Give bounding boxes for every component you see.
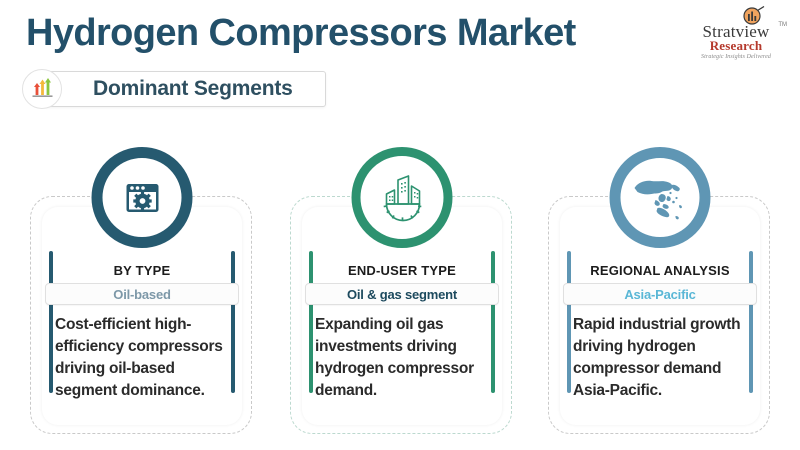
card-heading: REGIONAL ANALYSIS <box>560 263 760 278</box>
infographic-canvas: Hydrogen Compressors Market Stratview TM… <box>0 0 800 450</box>
industry-gear-icon <box>352 147 453 248</box>
card-description: Rapid industrial growth driving hydrogen… <box>573 314 752 402</box>
brand-logo: Stratview TM Research Strategic Insights… <box>684 6 788 64</box>
logo-subname: Research <box>684 39 788 52</box>
growth-arrows-icon <box>22 69 62 109</box>
segment-pill: Oil & gas segment <box>305 283 499 305</box>
segment-card-end-user-type: END-USER TYPE Oil & gas segment Expandin… <box>290 196 512 434</box>
segment-pill: Asia-Pacific <box>563 283 757 305</box>
logo-trademark: TM <box>778 22 787 28</box>
segment-pill: Oil-based <box>45 283 239 305</box>
card-heading: END-USER TYPE <box>302 263 502 278</box>
badge-label: Dominant Segments <box>93 77 293 101</box>
card-heading: BY TYPE <box>42 263 242 278</box>
segment-card-by-type: BY TYPE Oil-based Cost-efficient high-ef… <box>30 196 252 434</box>
segment-pill-label: Asia-Pacific <box>624 287 695 302</box>
segment-pill-label: Oil-based <box>113 287 170 302</box>
segment-pill-label: Oil & gas segment <box>347 287 457 302</box>
page-title: Hydrogen Compressors Market <box>26 12 576 55</box>
card-inner: REGIONAL ANALYSIS Asia-Pacific Rapid ind… <box>560 207 760 425</box>
browser-gear-icon <box>92 147 193 248</box>
segment-card-regional-analysis: REGIONAL ANALYSIS Asia-Pacific Rapid ind… <box>548 196 770 434</box>
card-description: Expanding oil gas investments driving hy… <box>315 314 494 402</box>
asia-pacific-map-icon <box>610 147 711 248</box>
badge-box: Dominant Segments <box>44 71 326 107</box>
card-inner: BY TYPE Oil-based Cost-efficient high-ef… <box>42 207 242 425</box>
card-description: Cost-efficient high-efficiency compresso… <box>55 314 234 402</box>
card-inner: END-USER TYPE Oil & gas segment Expandin… <box>302 207 502 425</box>
logo-tagline: Strategic Insights Delivered <box>684 54 788 60</box>
